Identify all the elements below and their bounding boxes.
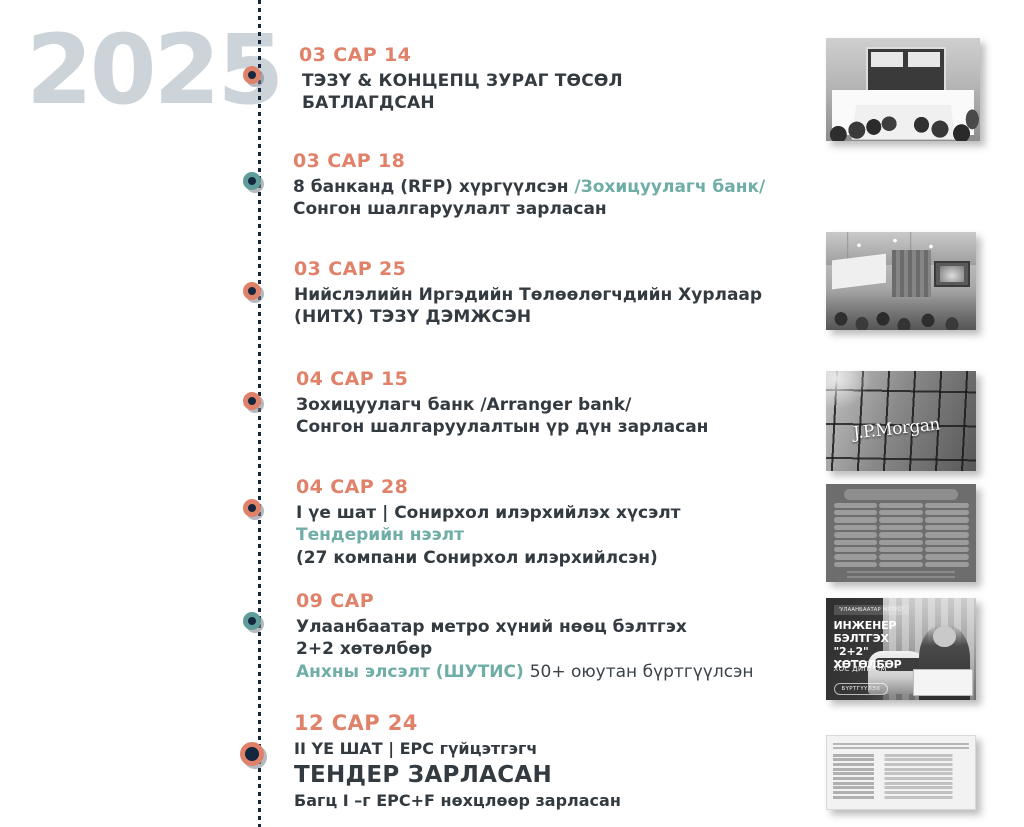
entry-line-plain: 50+ оюутан бүртгүүлсэн	[530, 662, 754, 682]
tender-document-photo: Tender announcement document screenshot	[826, 735, 976, 810]
entry-date: 03 САР 25	[294, 258, 762, 282]
entry-date: 03 САР 18	[293, 150, 765, 174]
entry-line: ТЭЗҮ & КОНЦЕПЦ ЗУРАГ ТӨСӨЛ	[302, 70, 623, 93]
entry-line-accent: Анхны элсэлт (ШУТИС)	[296, 662, 524, 682]
entry-line: Анхны элсэлт (ШУТИС) 50+ оюутан бүртгүүл…	[296, 661, 754, 684]
photo-alt: Tender announcement document screenshot	[827, 736, 828, 737]
entry-line: Багц I –г EPC+F нөхцлөөр зарласан	[294, 790, 621, 811]
document-field-rows	[833, 754, 969, 799]
timeline-dot-teal	[243, 612, 261, 630]
document-title-bar	[833, 743, 969, 750]
entry-line-accent: Тендерийн нээлт	[296, 524, 681, 547]
entry-line: II ҮЕ ШАТ | EPC гүйцэтгэгч	[294, 738, 621, 759]
timeline-dot-teal	[243, 172, 261, 190]
poster-register-button[interactable]: БҮРТГҮҮЛЭХ	[834, 683, 889, 695]
grid-header	[844, 489, 958, 500]
metro-program-poster-photo: 'УЛААНБААТАР МЕТРО' ИНЖЕНЕР БЭЛТГЭХ "2+2…	[826, 598, 976, 700]
timeline-dot-orange	[243, 282, 261, 300]
company-logo-cells	[834, 503, 969, 568]
entry-line-text: 8 банканд (RFP) хүргүүлсэн	[293, 177, 568, 197]
entry-date: 03 САР 14	[299, 44, 623, 68]
poster-caption: 'УЛААНБААТАР МЕТРО'	[834, 605, 909, 615]
timeline-dot-orange	[243, 392, 261, 410]
wall-monitor	[934, 261, 970, 286]
entry-line: 2+2 хөтөлбөр	[296, 638, 754, 661]
entry-line: БАТЛАГДСАН	[302, 92, 623, 115]
timeline: 03 САР 14 ТЭЗҮ & КОНЦЕПЦ ЗУРАГ ТӨСӨЛ БАТ…	[0, 0, 820, 827]
wood-wall	[892, 250, 931, 297]
photo-alt: Dark grid of participating company logos	[826, 484, 827, 485]
attendees	[826, 87, 980, 141]
photo-alt: Ulaanbaatar Metro 2+2 engineer training …	[826, 598, 827, 599]
entry-line: Зохицуулагч банк /Arranger bank/	[296, 394, 708, 417]
entry-line: Сонгон шалгаруулалт зарласан	[293, 198, 765, 221]
entry-date: 04 САР 28	[296, 476, 681, 500]
poster-subtitle: ХОС ДИПЛОМ	[834, 661, 887, 673]
photo-alt: Boardroom meeting with presentation scre…	[826, 38, 827, 39]
entry-line-accent: /Зохицуулагч банк/	[574, 177, 765, 197]
tender-companies-grid-photo: Dark grid of participating company logos	[826, 484, 976, 582]
seated-delegates	[826, 293, 976, 330]
timeline-dot-orange	[243, 499, 261, 517]
entry-line: ТЕНДЕР ЗАРЛАСАН	[294, 760, 621, 791]
diploma-certificate	[913, 669, 973, 696]
entry-line: Сонгон шалгаруулалтын үр дүн зарласан	[296, 416, 708, 439]
entry-line: (НИТХ) ТЭЗҮ ДЭМЖСЭН	[294, 306, 762, 329]
entry-line: 8 банканд (RFP) хүргүүлсэн /Зохицуулагч …	[293, 176, 765, 199]
entry-date: 12 САР 24	[294, 710, 621, 736]
timeline-dot-orange	[243, 66, 261, 84]
entry-line: (27 компани Сонирхол илэрхийлсэн)	[296, 547, 681, 570]
entry-date: 09 САР	[296, 590, 754, 614]
photo-column: Boardroom meeting with presentation scre…	[820, 0, 1024, 827]
entry-date: 04 САР 15	[296, 368, 708, 392]
entry-line: I үе шат | Сонирхол илэрхийлэх хүсэлт	[296, 502, 681, 525]
sky-reflection	[826, 371, 871, 409]
timeline-dot-orange	[240, 742, 264, 766]
council-hall-photo: City council hall session	[826, 232, 976, 330]
projection-screen	[832, 254, 886, 290]
grid-footer-note	[847, 571, 955, 579]
entry-line: Улаанбаатар метро хүний нөөц бэлтгэх	[296, 616, 754, 639]
entry-line: Нийслэлийн Иргэдийн Төлөөлөгчдийн Хурлаа…	[294, 284, 762, 307]
boardroom-presentation-photo: Boardroom meeting with presentation scre…	[826, 38, 980, 141]
jpmorgan-building-photo: J.P.Morgan J.P.Morgan glass building fac…	[826, 371, 976, 471]
